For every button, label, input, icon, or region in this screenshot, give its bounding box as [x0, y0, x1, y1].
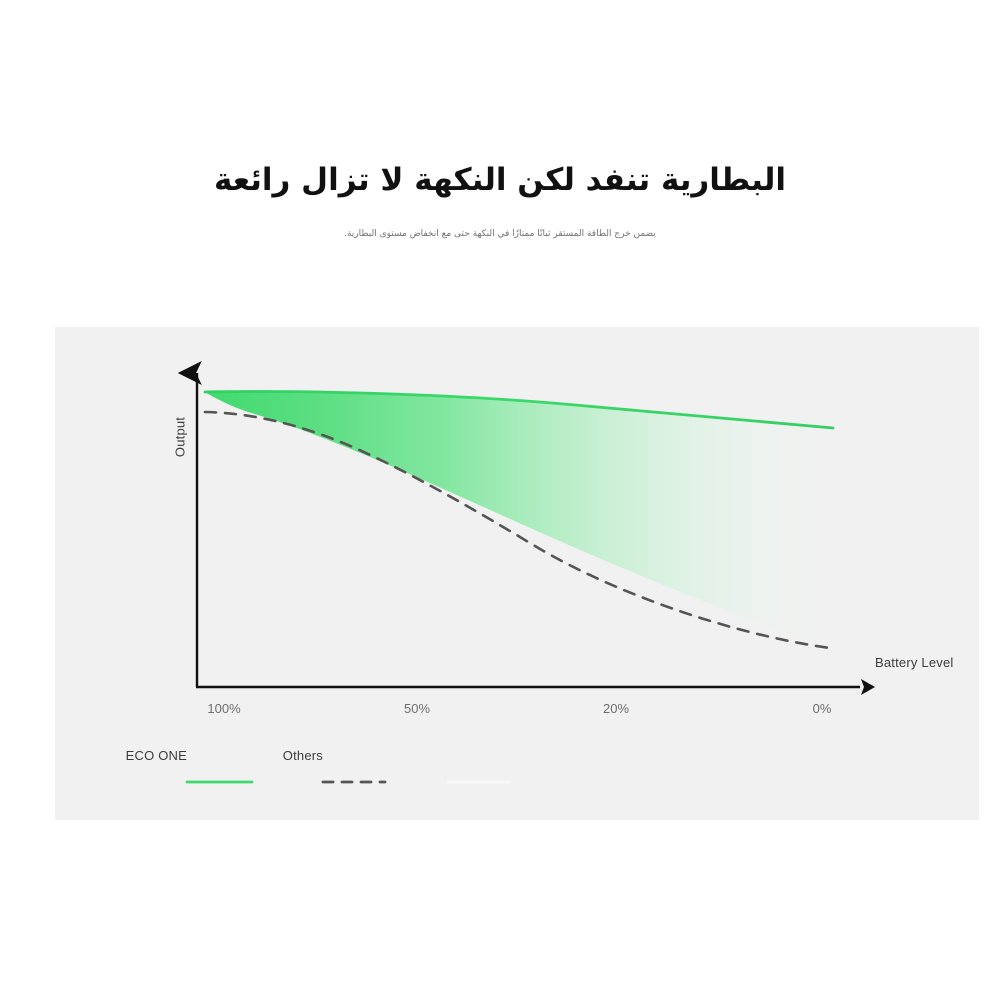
chart-figure: Output Battery Level 100% 50% 20% 0% ECO… — [55, 327, 979, 820]
x-axis-label: Battery Level — [875, 655, 953, 670]
battery-output-line-chart: Output Battery Level 100% 50% 20% 0% ECO… — [55, 327, 979, 820]
page-root: البطارية تنفد لكن النكهة لا تزال رائعة ي… — [0, 0, 1000, 1000]
legend-item-others[interactable]: Others — [283, 748, 385, 782]
chart-legend: ECO ONE Others — [126, 748, 510, 782]
x-axis-arrowhead — [861, 679, 875, 695]
output-gap-band — [205, 392, 833, 648]
chart-card: Output Battery Level 100% 50% 20% 0% ECO… — [55, 327, 979, 820]
page-title: البطارية تنفد لكن النكهة لا تزال رائعة — [0, 160, 1000, 202]
page-subtitle: يضمن خرج الطاقة المستقر ثباتًا ممتازًا ف… — [0, 202, 1000, 242]
heading-block: البطارية تنفد لكن النكهة لا تزال رائعة ي… — [0, 160, 1000, 241]
x-tick-label-0: 0% — [813, 701, 832, 716]
legend-label-eco-one: ECO ONE — [126, 748, 187, 763]
legend-item-eco-one[interactable]: ECO ONE — [126, 748, 252, 782]
y-axis-label: Output — [172, 417, 187, 457]
x-tick-label-100: 100% — [207, 701, 241, 716]
x-tick-label-20: 20% — [603, 701, 629, 716]
x-tick-label-50: 50% — [404, 701, 430, 716]
legend-label-others: Others — [283, 748, 324, 763]
